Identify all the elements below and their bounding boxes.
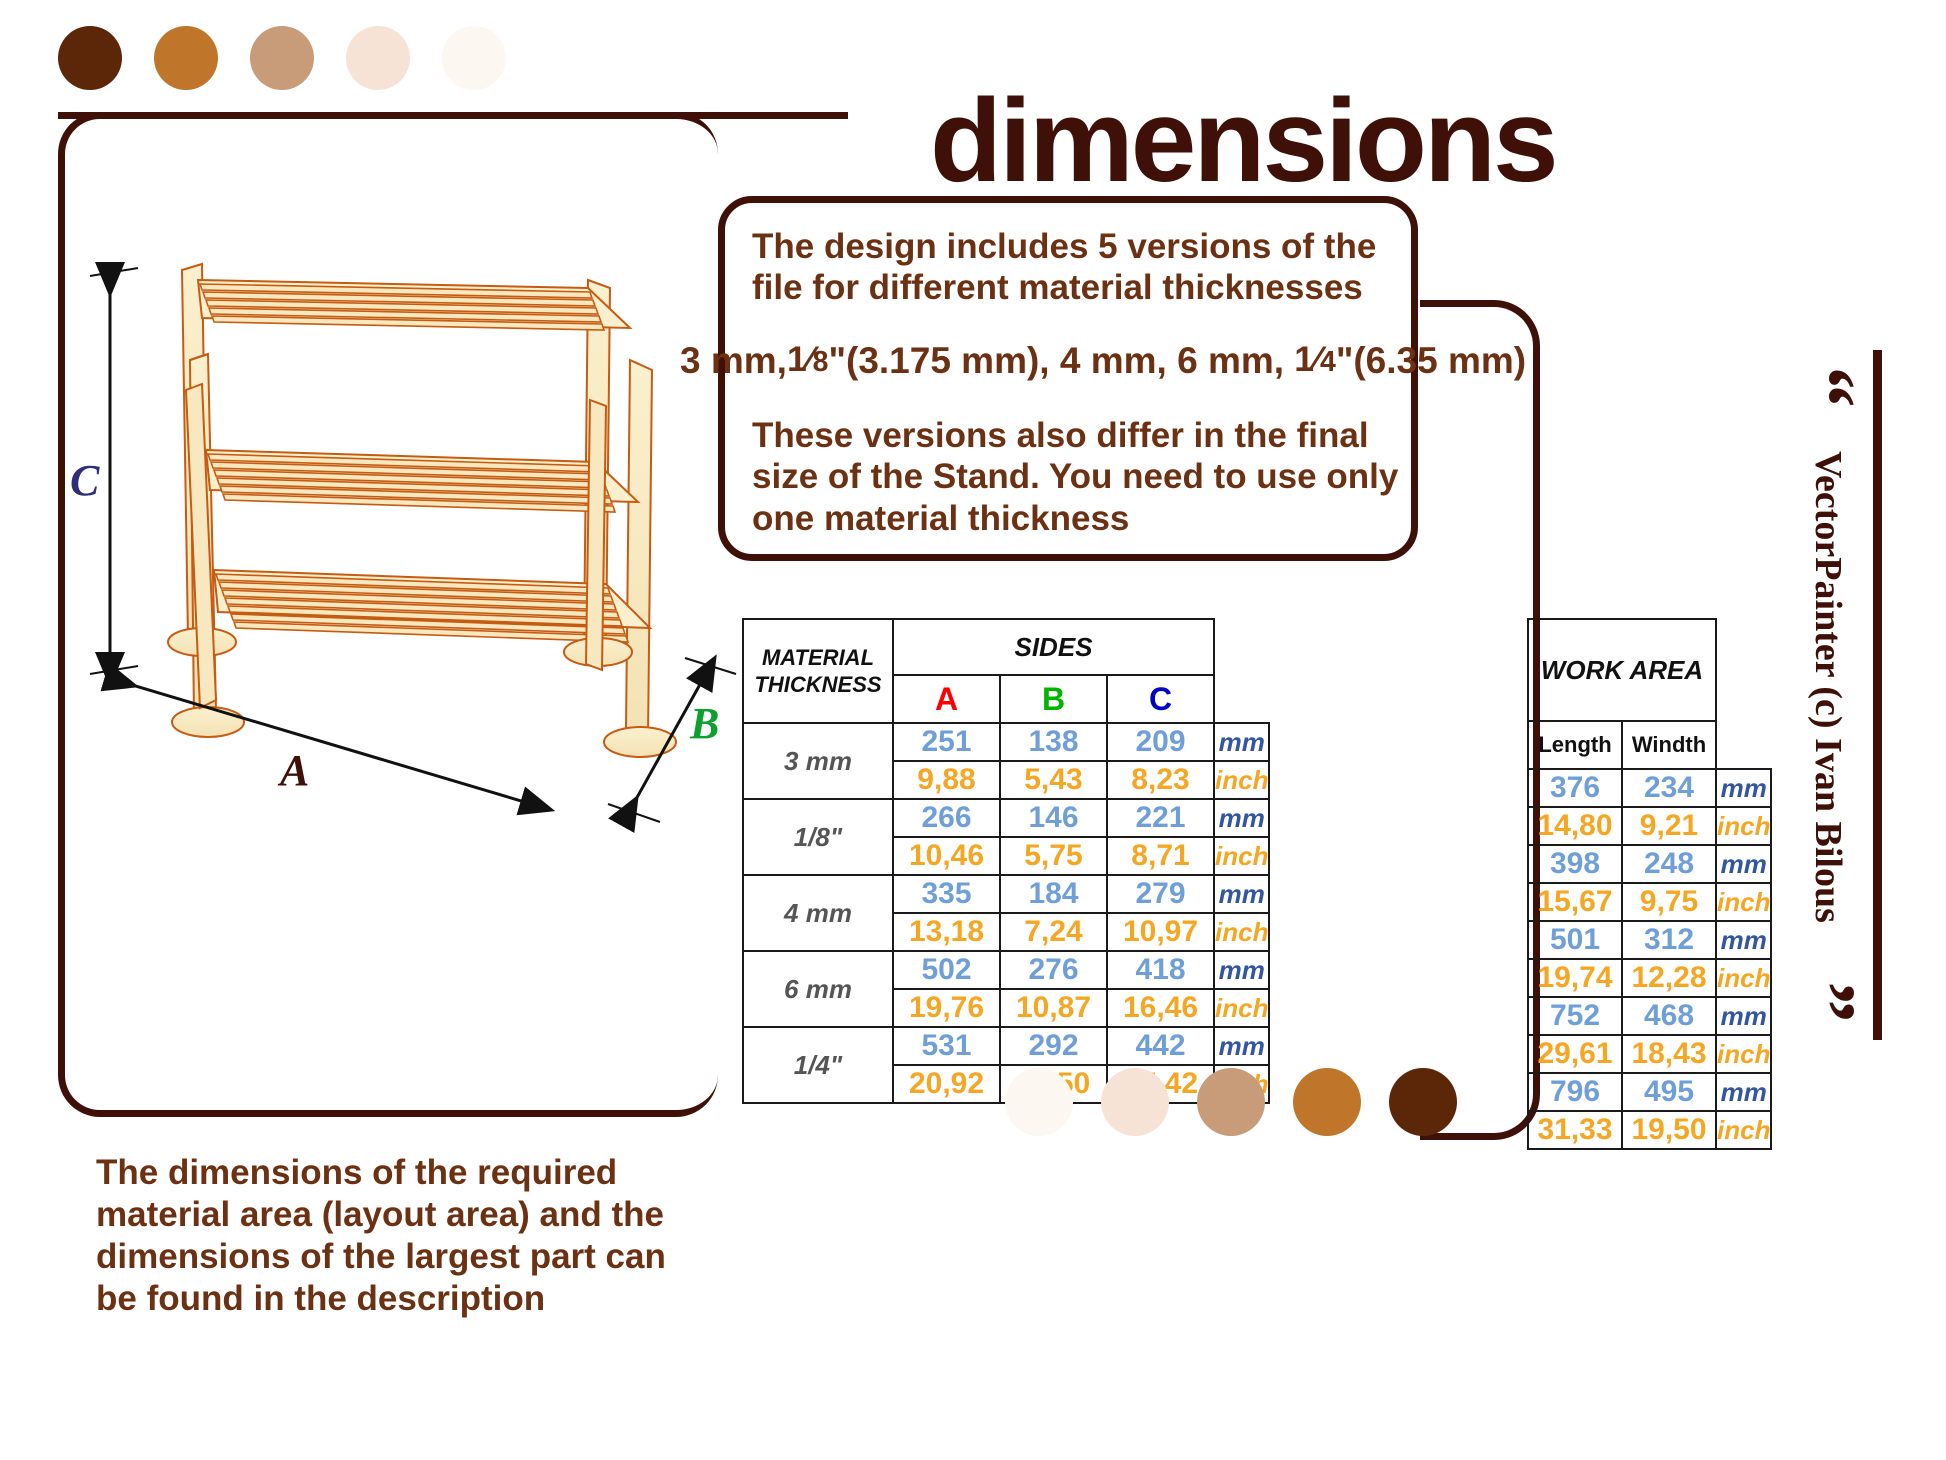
cell-width-mm: 234	[1622, 769, 1716, 807]
cell-width-inch: 18,43	[1622, 1035, 1716, 1073]
unit-mm: mm	[1214, 723, 1269, 761]
table-row: 501 312 mm	[1528, 921, 1771, 959]
cell-length-mm: 376	[1528, 769, 1622, 807]
cell-c-inch: 8,71	[1107, 837, 1214, 875]
color-palette-bottom	[1005, 1068, 1457, 1136]
watermark: VectorPainter (c) Ivan Bilous	[1798, 345, 1858, 1045]
unit-mm: mm	[1214, 875, 1269, 913]
thickness-prefix: 3 mm,	[680, 340, 787, 381]
cell-b-inch: 10,87	[1000, 989, 1107, 1027]
cell-c-inch: 8,23	[1107, 761, 1214, 799]
cell-length-mm: 796	[1528, 1073, 1622, 1111]
cell-b-mm: 292	[1000, 1027, 1107, 1065]
unit-inch: inch	[1716, 1111, 1771, 1149]
quote-close-icon: ”	[1780, 982, 1874, 1023]
row-thickness-eighth: 1/8"	[743, 799, 893, 875]
table-subheader-row: Length Windth	[1528, 721, 1771, 769]
cell-a-inch: 9,88	[893, 761, 1000, 799]
cell-width-inch: 12,28	[1622, 959, 1716, 997]
cell-width-mm: 495	[1622, 1073, 1716, 1111]
cell-length-mm: 398	[1528, 845, 1622, 883]
table-row: 6 mm 502 276 418 mm	[743, 951, 1269, 989]
cell-length-inch: 29,61	[1528, 1035, 1622, 1073]
info-line-1: The design includes 5 versions of the fi…	[752, 226, 1402, 309]
cell-a-mm: 251	[893, 723, 1000, 761]
cell-length-mm: 752	[1528, 997, 1622, 1035]
table-row: 19,74 12,28 inch	[1528, 959, 1771, 997]
fraction-one-eighth: 1⁄8	[787, 340, 829, 379]
thickness-suffix: "(6.35 mm)	[1336, 340, 1526, 381]
color-swatch-5	[442, 26, 506, 90]
table-row: 4 mm 335 184 279 mm	[743, 875, 1269, 913]
watermark-rule	[1873, 350, 1882, 1040]
thickness-mid: "(3.175 mm), 4 mm, 6 mm,	[828, 340, 1284, 381]
cell-b-inch: 5,43	[1000, 761, 1107, 799]
cell-b-mm: 138	[1000, 723, 1107, 761]
header-group-sides: SIDES	[893, 619, 1214, 675]
table-row: 1/8" 266 146 221 mm	[743, 799, 1269, 837]
unit-inch: inch	[1214, 761, 1269, 799]
cell-b-inch: 7,24	[1000, 913, 1107, 951]
color-swatch-1	[58, 26, 122, 90]
info-line-3: These versions also differ in the final …	[752, 415, 1402, 539]
unit-mm: mm	[1716, 921, 1771, 959]
unit-inch: inch	[1214, 913, 1269, 951]
unit-inch: inch	[1214, 989, 1269, 1027]
cell-width-inch: 9,21	[1622, 807, 1716, 845]
cell-a-inch: 13,18	[893, 913, 1000, 951]
unit-inch: inch	[1716, 883, 1771, 921]
header-material-thickness: MATERIAL THICKNESS	[743, 619, 893, 723]
cell-width-inch: 19,50	[1622, 1111, 1716, 1149]
cell-length-inch: 31,33	[1528, 1111, 1622, 1149]
cell-a-inch: 20,92	[893, 1065, 1000, 1103]
sides-dimension-table: MATERIAL THICKNESS SIDES A B C 3 mm 251 …	[742, 618, 1270, 1104]
cell-c-inch: 16,46	[1107, 989, 1214, 1027]
work-area-table: WORK AREA Length Windth 376 234 mm 14,80…	[1527, 618, 1772, 1150]
unit-inch: inch	[1716, 807, 1771, 845]
table-row: 752 468 mm	[1528, 997, 1771, 1035]
frame-top-rule	[58, 112, 848, 119]
cell-c-inch: 10,97	[1107, 913, 1214, 951]
color-swatch-4	[1293, 1068, 1361, 1136]
cell-length-inch: 14,80	[1528, 807, 1622, 845]
cell-width-inch: 9,75	[1622, 883, 1716, 921]
table-row: 14,80 9,21 inch	[1528, 807, 1771, 845]
cell-b-mm: 276	[1000, 951, 1107, 989]
color-swatch-1	[1005, 1068, 1073, 1136]
table-row: 376 234 mm	[1528, 769, 1771, 807]
info-line-thicknesses: 3 mm,1⁄8"(3.175 mm), 4 mm, 6 mm, 1⁄4"(6.…	[680, 341, 1460, 382]
header-col-width: Windth	[1622, 721, 1716, 769]
color-swatch-2	[1101, 1068, 1169, 1136]
header-col-length: Length	[1528, 721, 1622, 769]
cell-a-inch: 10,46	[893, 837, 1000, 875]
cell-length-inch: 19,74	[1528, 959, 1622, 997]
unit-mm: mm	[1716, 1073, 1771, 1111]
cell-c-mm: 442	[1107, 1027, 1214, 1065]
color-swatch-2	[154, 26, 218, 90]
unit-mm: mm	[1716, 845, 1771, 883]
cell-width-mm: 468	[1622, 997, 1716, 1035]
table-row: 398 248 mm	[1528, 845, 1771, 883]
cell-b-mm: 146	[1000, 799, 1107, 837]
cell-c-mm: 221	[1107, 799, 1214, 837]
table-header-row: MATERIAL THICKNESS SIDES	[743, 619, 1269, 675]
quote-open-icon: “	[1780, 367, 1874, 408]
row-thickness-4mm: 4 mm	[743, 875, 893, 951]
right-bracket-frame	[1420, 300, 1540, 1140]
cell-a-inch: 19,76	[893, 989, 1000, 1027]
page-title: dimensions	[930, 82, 1930, 200]
cell-a-mm: 531	[893, 1027, 1000, 1065]
unit-mm: mm	[1214, 799, 1269, 837]
cell-b-inch: 5,75	[1000, 837, 1107, 875]
color-swatch-4	[346, 26, 410, 90]
table-row: 15,67 9,75 inch	[1528, 883, 1771, 921]
color-swatch-3	[250, 26, 314, 90]
cell-length-inch: 15,67	[1528, 883, 1622, 921]
cell-width-mm: 312	[1622, 921, 1716, 959]
cell-a-mm: 266	[893, 799, 1000, 837]
cell-c-mm: 418	[1107, 951, 1214, 989]
dimension-label-a: A	[280, 745, 309, 796]
table-row: 3 mm 251 138 209 mm	[743, 723, 1269, 761]
cell-width-mm: 248	[1622, 845, 1716, 883]
table-header-row: WORK AREA	[1528, 619, 1771, 721]
unit-inch: inch	[1716, 1035, 1771, 1073]
unit-mm: mm	[1716, 997, 1771, 1035]
table-row: 29,61 18,43 inch	[1528, 1035, 1771, 1073]
row-thickness-quarter: 1/4"	[743, 1027, 893, 1103]
watermark-text: VectorPainter (c) Ivan Bilous	[1806, 357, 1850, 1017]
color-swatch-5	[1389, 1068, 1457, 1136]
dimension-label-b: B	[690, 698, 719, 749]
header-group-work-area: WORK AREA	[1528, 619, 1716, 721]
color-swatch-3	[1197, 1068, 1265, 1136]
header-col-c: C	[1107, 675, 1214, 723]
unit-inch: inch	[1716, 959, 1771, 997]
cell-b-mm: 184	[1000, 875, 1107, 913]
dimension-label-c: C	[70, 455, 99, 506]
unit-mm: mm	[1214, 951, 1269, 989]
row-thickness-6mm: 6 mm	[743, 951, 893, 1027]
table-row: 1/4" 531 292 442 mm	[743, 1027, 1269, 1065]
color-palette-top	[58, 26, 506, 90]
row-thickness-3mm: 3 mm	[743, 723, 893, 799]
fraction-one-quarter: 1⁄4	[1294, 340, 1336, 379]
header-col-b: B	[1000, 675, 1107, 723]
cell-length-mm: 501	[1528, 921, 1622, 959]
table-row: 31,33 19,50 inch	[1528, 1111, 1771, 1149]
bottom-description-note: The dimensions of the required material …	[96, 1152, 716, 1320]
cell-c-mm: 209	[1107, 723, 1214, 761]
cell-a-mm: 335	[893, 875, 1000, 913]
unit-inch: inch	[1214, 837, 1269, 875]
table-row: 796 495 mm	[1528, 1073, 1771, 1111]
unit-mm: mm	[1214, 1027, 1269, 1065]
unit-mm: mm	[1716, 769, 1771, 807]
cell-a-mm: 502	[893, 951, 1000, 989]
cell-c-mm: 279	[1107, 875, 1214, 913]
header-col-a: A	[893, 675, 1000, 723]
